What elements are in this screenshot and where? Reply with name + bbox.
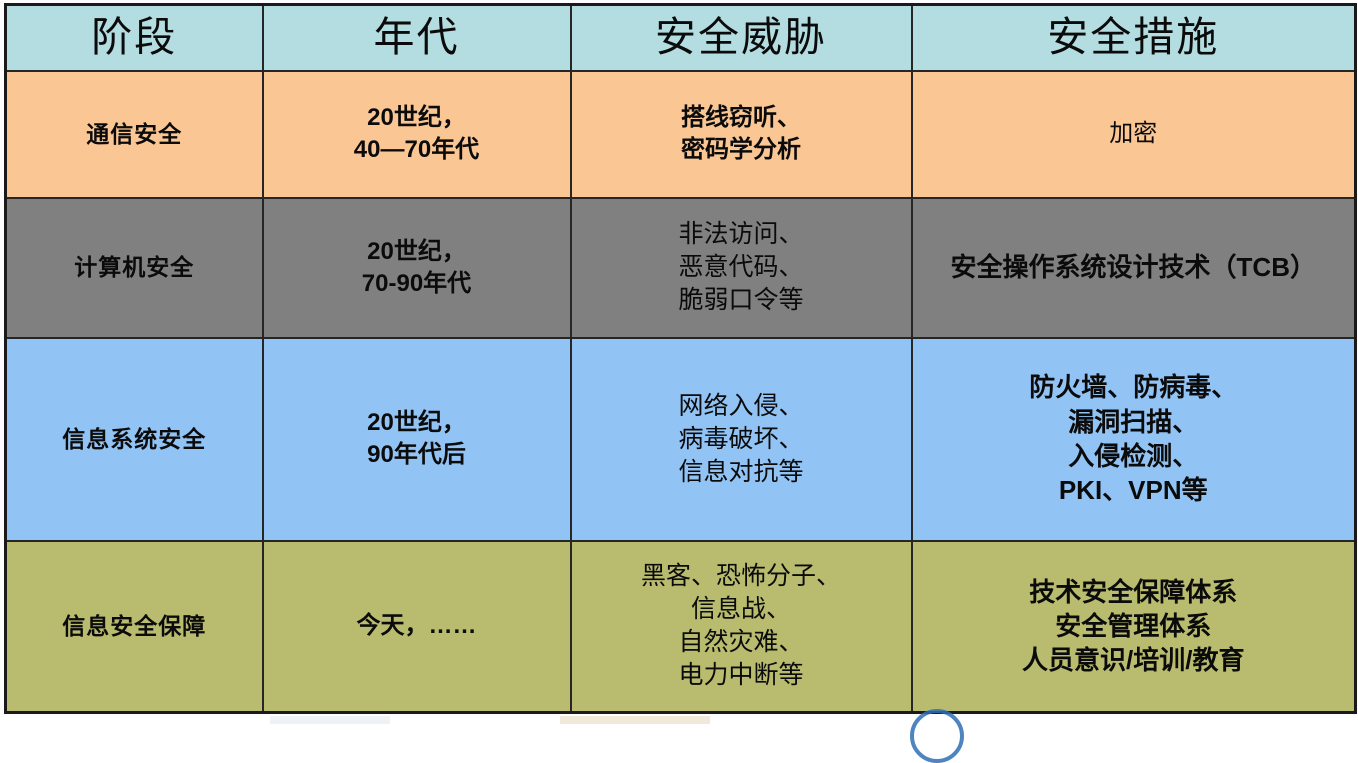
cell-era: 20世纪， 40—70年代 [263,71,571,198]
column-header-threat: 安全威胁 [571,5,912,71]
measure-lines: 安全操作系统设计技术（TCB） [917,250,1351,284]
table-row-computer-security: 计算机安全 20世纪， 70-90年代 非法访问、 恶意代码、 脆弱口令等 [6,198,1356,338]
measure-line: PKI、VPN等 [917,473,1351,507]
column-header-stage: 阶段 [6,5,263,71]
cell-era: 今天，…… [263,541,571,713]
era-line: 20世纪， [268,407,566,439]
measure-lines: 防火墙、防病毒、 漏洞扫描、 入侵检测、 PKI、VPN等 [917,370,1351,507]
era-line: 70-90年代 [268,268,566,300]
era-line: 40—70年代 [268,134,566,166]
measure-line: 安全管理体系 [917,609,1351,643]
measure-lines: 技术安全保障体系 安全管理体系 人员意识/培训/教育 [917,575,1351,678]
measure-line: 防火墙、防病毒、 [917,370,1351,404]
threat-line: 恶意代码、 [576,251,907,284]
table-row-information-security-assurance: 信息安全保障 今天，…… 黑客、恐怖分子、 信息战、 自然灾难、 电力中断等 [6,541,1356,713]
era-line: 20世纪， [268,236,566,268]
cell-threat: 网络入侵、 病毒破坏、 信息对抗等 [571,338,912,541]
measure-line: 安全操作系统设计技术（TCB） [917,250,1351,284]
threat-lines: 搭线窃听、 密码学分析 [576,102,907,165]
threat-lines: 黑客、恐怖分子、 信息战、 自然灾难、 电力中断等 [576,560,907,692]
era-lines: 20世纪， 70-90年代 [268,236,566,299]
slide-bottom-artifact-left [270,716,390,724]
security-evolution-table: 阶段 年代 安全威胁 安全措施 通信安全 20世纪， 40—70年代 搭线窃听 [4,3,1357,714]
column-header-measure: 安全措施 [912,5,1356,71]
threat-line: 非法访问、 [576,218,907,251]
circle-outline-icon [910,709,964,763]
cell-era: 20世纪， 90年代后 [263,338,571,541]
era-lines: 20世纪， 40—70年代 [268,102,566,165]
era-line: 今天，…… [268,610,566,642]
era-lines: 20世纪， 90年代后 [268,407,566,470]
threat-line: 病毒破坏、 [576,423,907,456]
table-body: 通信安全 20世纪， 40—70年代 搭线窃听、 密码学分析 加密 [6,71,1356,713]
threat-line: 脆弱口令等 [576,284,907,317]
slide-bottom-artifact-mid [560,716,710,724]
threat-line: 自然灾难、 [576,626,907,659]
cell-stage: 信息系统安全 [6,338,263,541]
era-lines: 今天，…… [268,610,566,642]
threat-line: 信息对抗等 [576,456,907,489]
cell-threat: 搭线窃听、 密码学分析 [571,71,912,198]
measure-line: 加密 [917,118,1351,150]
measure-line: 技术安全保障体系 [917,575,1351,609]
header-row: 阶段 年代 安全威胁 安全措施 [6,5,1356,71]
cell-measure: 加密 [912,71,1356,198]
measure-line: 人员意识/培训/教育 [917,643,1351,677]
threat-line: 电力中断等 [576,659,907,692]
era-line: 20世纪， [268,102,566,134]
cell-measure: 防火墙、防病毒、 漏洞扫描、 入侵检测、 PKI、VPN等 [912,338,1356,541]
cell-measure: 技术安全保障体系 安全管理体系 人员意识/培训/教育 [912,541,1356,713]
measure-line: 入侵检测、 [917,439,1351,473]
era-line: 90年代后 [268,439,566,471]
threat-line: 网络入侵、 [576,390,907,423]
measure-line: 漏洞扫描、 [917,405,1351,439]
cell-stage: 信息安全保障 [6,541,263,713]
cell-era: 20世纪， 70-90年代 [263,198,571,338]
threat-lines: 非法访问、 恶意代码、 脆弱口令等 [576,218,907,317]
threat-line: 密码学分析 [576,134,907,166]
threat-line: 搭线窃听、 [576,102,907,134]
table-row-communication-security: 通信安全 20世纪， 40—70年代 搭线窃听、 密码学分析 加密 [6,71,1356,198]
threat-line: 黑客、恐怖分子、 [576,560,907,593]
threat-line: 信息战、 [576,593,907,626]
cell-stage: 通信安全 [6,71,263,198]
table-header: 阶段 年代 安全威胁 安全措施 [6,5,1356,71]
cell-stage: 计算机安全 [6,198,263,338]
cell-threat: 非法访问、 恶意代码、 脆弱口令等 [571,198,912,338]
threat-lines: 网络入侵、 病毒破坏、 信息对抗等 [576,390,907,489]
measure-lines: 加密 [917,118,1351,150]
column-header-era: 年代 [263,5,571,71]
cell-threat: 黑客、恐怖分子、 信息战、 自然灾难、 电力中断等 [571,541,912,713]
slide-canvas: 阶段 年代 安全威胁 安全措施 通信安全 20世纪， 40—70年代 搭线窃听 [0,3,1358,724]
table-row-information-system-security: 信息系统安全 20世纪， 90年代后 网络入侵、 病毒破坏、 信息对抗等 [6,338,1356,541]
cell-measure: 安全操作系统设计技术（TCB） [912,198,1356,338]
